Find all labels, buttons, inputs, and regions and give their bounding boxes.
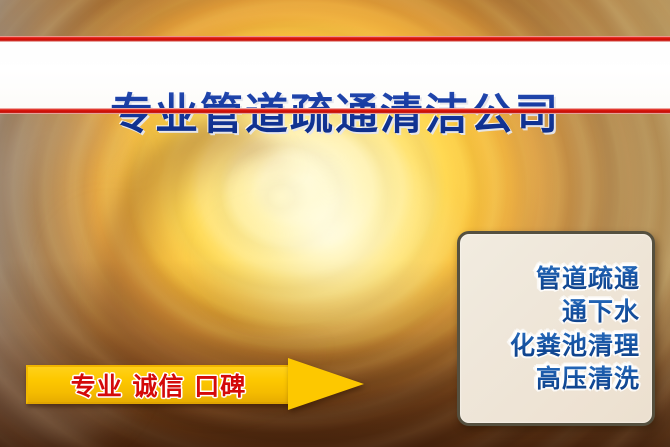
light-hotspot — [200, 140, 460, 350]
service-item-3: 化粪池清理 — [468, 329, 640, 362]
slogan-arrow-banner: 专业 诚信 口碑 — [26, 362, 364, 407]
header-bar: 专业管道疏通清洁公司 — [0, 36, 670, 114]
slogan-text: 专业 诚信 口碑 — [26, 365, 291, 404]
service-item-2: 通下水 — [468, 295, 640, 328]
service-list-panel: 管道疏通 通下水 化粪池清理 高压清洗 — [457, 231, 655, 426]
service-item-1: 管道疏通 — [468, 262, 640, 295]
header-rule-top — [0, 36, 670, 42]
advertisement-banner: 专业管道疏通清洁公司 专业 诚信 口碑 管道疏通 通下水 化粪池清理 高压清洗 — [0, 0, 670, 447]
header-rule-bottom — [0, 108, 670, 114]
service-item-4: 高压清洗 — [468, 362, 640, 395]
arrow-head-icon — [288, 358, 364, 410]
